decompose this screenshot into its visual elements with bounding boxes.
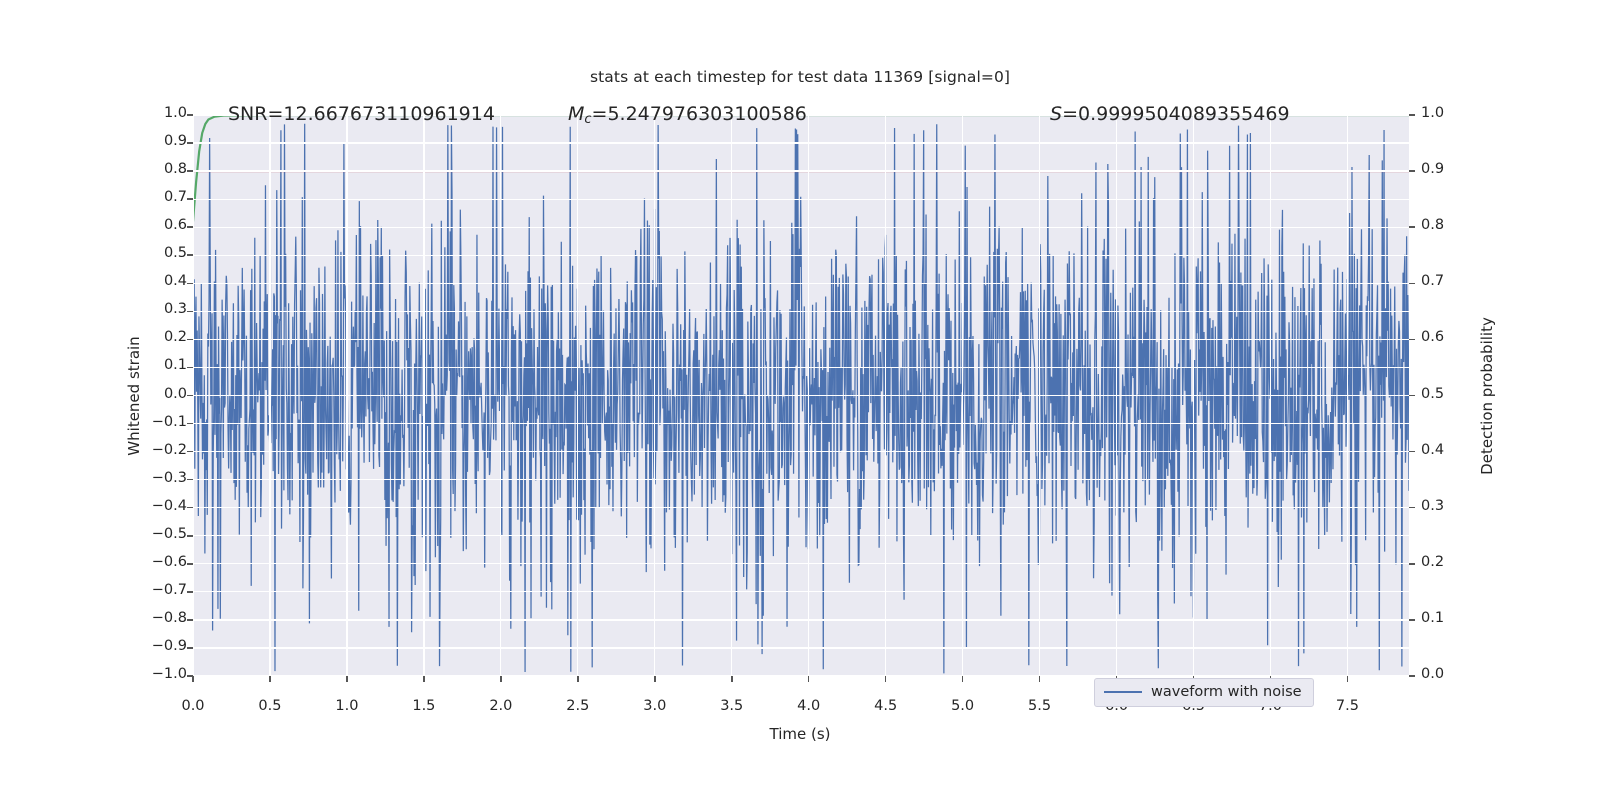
y-axis-left-tick-label: −0.9 [127, 638, 187, 654]
y-axis-left-tick-label: −0.3 [127, 470, 187, 486]
y-axis-right-tick-label: 0.3 [1421, 498, 1481, 514]
y-axis-right-tick-mark [1409, 451, 1415, 453]
annotation-snr-label: SNR= [228, 103, 283, 125]
gridline-horizontal [193, 591, 1409, 592]
x-axis-tick-mark [192, 676, 194, 682]
gridline-vertical [1039, 115, 1040, 676]
y-axis-right-tick-label: 1.0 [1421, 105, 1481, 121]
y-axis-right-tick-mark [1409, 339, 1415, 341]
gridline-vertical [577, 115, 578, 676]
y-axis-right-tick-label: 0.9 [1421, 161, 1481, 177]
x-axis-tick-mark [423, 676, 425, 682]
gridline-vertical [1116, 115, 1117, 676]
annotation-score: S=0.9999504089355469 [1050, 103, 1290, 125]
annotation-s-symbol: S [1050, 103, 1062, 125]
x-axis-tick-label: 3.0 [625, 698, 685, 714]
annotation-chirp-mass: Mc=5.247976303100586 [568, 103, 807, 127]
gridline-horizontal [193, 255, 1409, 256]
annotation-snr: SNR=12.667673110961914 [228, 103, 495, 125]
gridline-horizontal [193, 563, 1409, 564]
x-axis-tick-label: 5.5 [1010, 698, 1070, 714]
x-axis-tick-label: 4.0 [779, 698, 839, 714]
gridline-horizontal [193, 507, 1409, 508]
x-axis-tick-mark [654, 676, 656, 682]
page-title: stats at each timestep for test data 113… [0, 68, 1600, 86]
x-axis-tick-mark [808, 676, 810, 682]
y-axis-left-tick-mark [187, 142, 193, 144]
y-axis-right-label: Detection probability [1478, 317, 1496, 475]
y-axis-right-tick-label: 0.5 [1421, 386, 1481, 402]
x-axis-tick-mark [731, 676, 733, 682]
gridline-horizontal [193, 647, 1409, 648]
gridline-horizontal [193, 619, 1409, 620]
x-axis-tick-label: 4.5 [856, 698, 916, 714]
y-axis-left-tick-label: −0.6 [127, 554, 187, 570]
legend[interactable]: waveform with noise [1094, 678, 1314, 707]
gridline-vertical [500, 115, 501, 676]
x-axis-tick-mark [346, 676, 348, 682]
y-axis-left-tick-label: 1.0 [127, 105, 187, 121]
y-axis-right-tick-label: 0.7 [1421, 273, 1481, 289]
x-axis-tick-mark [962, 676, 964, 682]
x-axis-tick-label: 0.0 [163, 698, 223, 714]
y-axis-right-tick-mark [1409, 170, 1415, 172]
y-axis-left-tick-mark [187, 619, 193, 621]
x-axis-tick-mark [1347, 676, 1349, 682]
y-axis-left-tick-label: 0.3 [127, 301, 187, 317]
gridline-vertical [1347, 115, 1348, 676]
y-axis-right-tick-label: 0.8 [1421, 217, 1481, 233]
gridline-vertical [808, 115, 809, 676]
x-axis-tick-label: 1.0 [317, 698, 377, 714]
x-axis-tick-label: 7.5 [1317, 698, 1377, 714]
y-axis-left-tick-mark [187, 591, 193, 593]
y-axis-left-tick-mark [187, 170, 193, 172]
y-axis-left-tick-mark [187, 563, 193, 565]
y-axis-right-tick-label: 0.6 [1421, 329, 1481, 345]
gridline-vertical [654, 115, 655, 676]
y-axis-right-tick-mark [1409, 507, 1415, 509]
y-axis-right-tick-mark [1409, 563, 1415, 565]
annotation-s-label: = [1062, 103, 1078, 125]
legend-label-waveform: waveform with noise [1151, 684, 1302, 700]
y-axis-left-tick-mark [187, 198, 193, 200]
gridline-horizontal [193, 227, 1409, 228]
y-axis-right-tick-label: 0.0 [1421, 666, 1481, 682]
x-axis-tick-label: 2.0 [471, 698, 531, 714]
y-axis-left-tick-mark [187, 367, 193, 369]
gridline-vertical [269, 115, 270, 676]
y-axis-right-tick-mark [1409, 619, 1415, 621]
y-axis-left-tick-mark [187, 423, 193, 425]
y-axis-right-tick-mark [1409, 395, 1415, 397]
y-axis-left-tick-mark [187, 507, 193, 509]
gridline-horizontal [193, 142, 1409, 143]
gridline-vertical [1193, 115, 1194, 676]
gridline-horizontal [193, 479, 1409, 480]
y-axis-left-tick-mark [187, 114, 193, 116]
gridline-horizontal [193, 199, 1409, 200]
gridline-horizontal [193, 451, 1409, 452]
annotation-snr-value: 12.667673110961914 [283, 103, 495, 125]
gridline-horizontal [193, 423, 1409, 424]
x-axis-tick-label: 5.0 [933, 698, 993, 714]
x-axis-tick-mark [1039, 676, 1041, 682]
y-axis-right-tick-mark [1409, 675, 1415, 677]
gridline-horizontal [193, 283, 1409, 284]
gridline-horizontal [193, 170, 1409, 171]
x-axis-tick-mark [269, 676, 271, 682]
y-axis-left-tick-mark [187, 647, 193, 649]
x-axis-tick-label: 0.5 [240, 698, 300, 714]
gridline-horizontal [193, 367, 1409, 368]
gridline-vertical [731, 115, 732, 676]
plot-axes [193, 115, 1409, 676]
annotation-mc-symbol: M [568, 103, 584, 125]
y-axis-left-tick-mark [187, 311, 193, 313]
annotation-mc-value: 5.247976303100586 [607, 103, 806, 125]
y-axis-left-label: Whitened strain [125, 336, 143, 455]
y-axis-left-tick-mark [187, 451, 193, 453]
gridline-vertical [346, 115, 347, 676]
gridline-horizontal [193, 395, 1409, 396]
y-axis-left-tick-label: 0.8 [127, 161, 187, 177]
y-axis-right-tick-mark [1409, 226, 1415, 228]
gridline-horizontal [193, 675, 1409, 676]
annotation-mc-subscript: c [584, 112, 591, 127]
y-axis-left-tick-label: −0.5 [127, 526, 187, 542]
y-axis-left-tick-mark [187, 395, 193, 397]
y-axis-left-tick-mark [187, 283, 193, 285]
gridline-vertical [885, 115, 886, 676]
matplotlib-figure: stats at each timestep for test data 113… [0, 0, 1600, 800]
y-axis-left-tick-mark [187, 226, 193, 228]
x-axis-tick-label: 2.5 [548, 698, 608, 714]
legend-swatch-waveform [1104, 691, 1142, 693]
y-axis-left-tick-label: 0.9 [127, 133, 187, 149]
y-axis-left-tick-label: 0.7 [127, 189, 187, 205]
y-axis-left-tick-mark [187, 339, 193, 341]
x-axis-tick-label: 3.5 [702, 698, 762, 714]
x-axis-tick-label: 1.5 [394, 698, 454, 714]
x-axis-tick-mark [500, 676, 502, 682]
gridline-horizontal [193, 339, 1409, 340]
y-axis-left-tick-label: 0.6 [127, 217, 187, 233]
y-axis-left-tick-mark [187, 254, 193, 256]
x-axis-label: Time (s) [0, 725, 1600, 743]
y-axis-left-tick-label: −0.4 [127, 498, 187, 514]
gridline-horizontal [193, 311, 1409, 312]
y-axis-right-tick-mark [1409, 283, 1415, 285]
y-axis-left-tick-label: 0.4 [127, 273, 187, 289]
y-axis-left-tick-mark [187, 479, 193, 481]
annotation-s-value: 0.9999504089355469 [1078, 103, 1290, 125]
gridline-vertical [423, 115, 424, 676]
y-axis-left-tick-label: −0.7 [127, 582, 187, 598]
gridline-vertical [1270, 115, 1271, 676]
y-axis-left-tick-label: −0.8 [127, 610, 187, 626]
gridline-vertical [962, 115, 963, 676]
annotation-mc-label: = [592, 103, 608, 125]
y-axis-left-tick-label: −1.0 [127, 666, 187, 682]
y-axis-left-tick-label: 0.5 [127, 245, 187, 261]
y-axis-right-tick-mark [1409, 114, 1415, 116]
y-axis-right-tick-label: 0.2 [1421, 554, 1481, 570]
y-axis-left-tick-mark [187, 535, 193, 537]
y-axis-right-tick-label: 0.4 [1421, 442, 1481, 458]
gridline-horizontal [193, 535, 1409, 536]
y-axis-right-tick-label: 0.1 [1421, 610, 1481, 626]
x-axis-tick-mark [885, 676, 887, 682]
x-axis-tick-mark [577, 676, 579, 682]
